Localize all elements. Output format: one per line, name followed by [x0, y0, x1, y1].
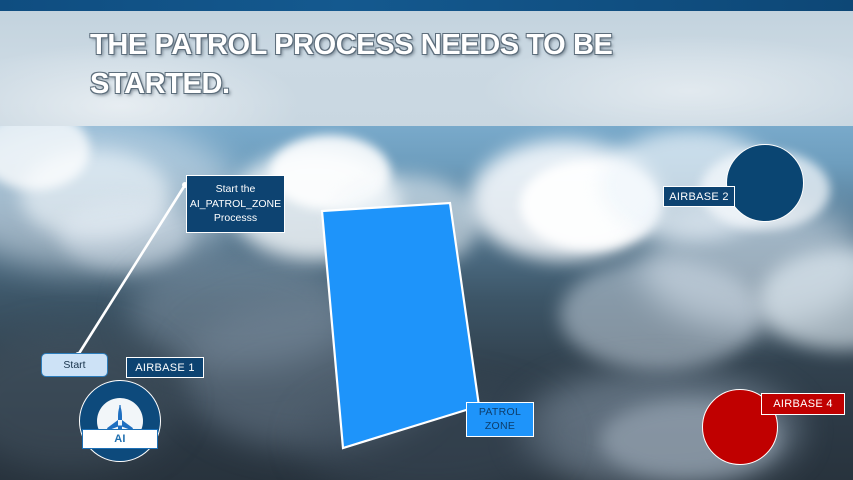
callout-start-process[interactable]: Start the AI_PATROL_ZONE Processs	[186, 175, 285, 233]
ai-node[interactable]	[79, 380, 161, 462]
callout-line-1: Start the	[216, 182, 256, 197]
patrol-zone-label-line-1: PATROL	[479, 406, 521, 419]
patrol-zone-label-line-2: ZONE	[485, 420, 515, 433]
callout-line-2: AI_PATROL_ZONE	[190, 197, 281, 212]
callout-line-3: Processs	[214, 211, 257, 226]
airbase-1-label[interactable]: AIRBASE 1	[126, 357, 204, 378]
airbase-2-label[interactable]: AIRBASE 2	[663, 186, 735, 207]
start-button[interactable]: Start	[41, 353, 108, 377]
patrol-zone-label[interactable]: PATROL ZONE	[466, 402, 534, 437]
airbase-4-label[interactable]: AIRBASE 4	[761, 393, 845, 415]
slide-canvas: THE PATROL PROCESS NEEDS TO BE STARTED. …	[0, 0, 853, 480]
airbase-2-node[interactable]	[726, 144, 804, 222]
ai-node-label: AI	[82, 429, 158, 449]
